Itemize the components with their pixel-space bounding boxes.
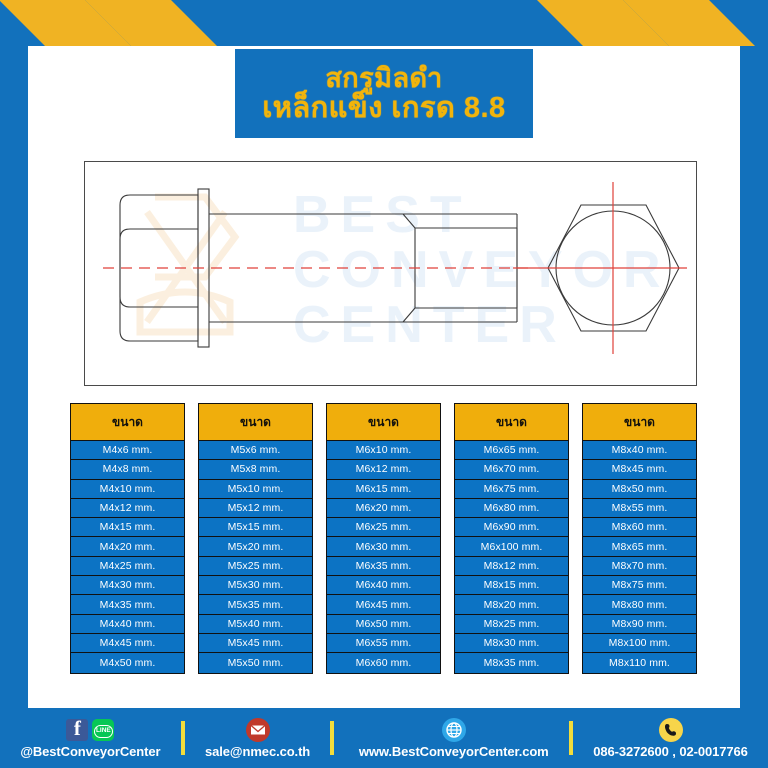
bolt-drawing-svg: BEST CONVEYOR CENTER	[85, 162, 695, 384]
table-row: M8x12 mm.	[455, 557, 568, 576]
table-row: M6x15 mm.	[327, 480, 440, 499]
table-row: M8x110 mm.	[583, 653, 696, 672]
table-row: M6x10 mm.	[327, 441, 440, 460]
table-row: M5x6 mm.	[199, 441, 312, 460]
table-row: M5x30 mm.	[199, 576, 312, 595]
svg-text:BEST: BEST	[293, 186, 472, 244]
table-row: M6x35 mm.	[327, 557, 440, 576]
table-row: M5x25 mm.	[199, 557, 312, 576]
footer-item-website[interactable]: www.BestConveyorCenter.com	[359, 718, 549, 759]
table-header: ขนาด	[454, 403, 569, 441]
table-row: M8x100 mm.	[583, 634, 696, 653]
table-row: M4x50 mm.	[71, 653, 184, 672]
table-row: M6x65 mm.	[455, 441, 568, 460]
table-row: M4x20 mm.	[71, 537, 184, 556]
title-line-1: สกรูมิลดำ	[325, 64, 442, 92]
table-row: M8x60 mm.	[583, 518, 696, 537]
footer-website-label: www.BestConveyorCenter.com	[359, 744, 549, 759]
svg-text:CONVEYOR: CONVEYOR	[293, 241, 671, 299]
table-row: M8x35 mm.	[455, 653, 568, 672]
table-row: M6x75 mm.	[455, 480, 568, 499]
table-row: M4x25 mm.	[71, 557, 184, 576]
table-header: ขนาด	[326, 403, 441, 441]
table-row: M8x15 mm.	[455, 576, 568, 595]
table-row: M4x15 mm.	[71, 518, 184, 537]
table-row: M8x30 mm.	[455, 634, 568, 653]
table-row: M6x55 mm.	[327, 634, 440, 653]
footer-divider-2	[330, 721, 334, 755]
table-row: M6x45 mm.	[327, 595, 440, 614]
table-row: M6x60 mm.	[327, 653, 440, 672]
facebook-icon[interactable]	[66, 719, 88, 741]
table-row: M4x30 mm.	[71, 576, 184, 595]
table-row: M5x40 mm.	[199, 615, 312, 634]
table-row: M6x80 mm.	[455, 499, 568, 518]
table-row: M8x75 mm.	[583, 576, 696, 595]
table-row: M6x25 mm.	[327, 518, 440, 537]
footer-divider-3	[569, 721, 573, 755]
footer-item-phone[interactable]: 086-3272600 , 02-0017766	[593, 718, 747, 759]
table-header: ขนาด	[70, 403, 185, 441]
footer-item-email[interactable]: sale@nmec.co.th	[205, 718, 310, 759]
table-row: M8x45 mm.	[583, 460, 696, 479]
size-table-column-4: ขนาด M6x65 mm.M6x70 mm.M6x75 mm.M6x80 mm…	[454, 403, 569, 674]
table-row: M5x8 mm.	[199, 460, 312, 479]
footer-facebook-label: @BestConveyorCenter	[20, 744, 160, 759]
logo-watermark	[140, 197, 235, 332]
table-row: M5x35 mm.	[199, 595, 312, 614]
footer-phone-label: 086-3272600 , 02-0017766	[593, 744, 747, 759]
size-tables: ขนาด M4x6 mm.M4x8 mm.M4x10 mm.M4x12 mm.M…	[70, 403, 697, 674]
table-body: M6x10 mm.M6x12 mm.M6x15 mm.M6x20 mm.M6x2…	[326, 441, 441, 674]
page-title: สกรูมิลดำ เหล็กแข็ง เกรด 8.8	[235, 49, 533, 138]
table-row: M6x12 mm.	[327, 460, 440, 479]
table-row: M8x25 mm.	[455, 615, 568, 634]
footer-email-label: sale@nmec.co.th	[205, 744, 310, 759]
globe-icon[interactable]	[442, 718, 466, 742]
table-row: M8x20 mm.	[455, 595, 568, 614]
table-row: M8x65 mm.	[583, 537, 696, 556]
table-row: M8x55 mm.	[583, 499, 696, 518]
table-row: M6x100 mm.	[455, 537, 568, 556]
table-row: M5x15 mm.	[199, 518, 312, 537]
svg-text:CENTER: CENTER	[293, 296, 567, 354]
table-row: M4x35 mm.	[71, 595, 184, 614]
footer-bar: @BestConveyorCenter sale@nmec.co.th www.…	[0, 708, 768, 768]
table-row: M8x50 mm.	[583, 480, 696, 499]
phone-icon[interactable]	[659, 718, 683, 742]
size-table-column-2: ขนาด M5x6 mm.M5x8 mm.M5x10 mm.M5x12 mm.M…	[198, 403, 313, 674]
table-row: M6x30 mm.	[327, 537, 440, 556]
table-row: M6x70 mm.	[455, 460, 568, 479]
title-line-2: เหล็กแข็ง เกรด 8.8	[262, 93, 505, 123]
envelope-icon[interactable]	[246, 718, 270, 742]
size-table-column-3: ขนาด M6x10 mm.M6x12 mm.M6x15 mm.M6x20 mm…	[326, 403, 441, 674]
table-row: M6x50 mm.	[327, 615, 440, 634]
table-row: M4x6 mm.	[71, 441, 184, 460]
table-body: M8x40 mm.M8x45 mm.M8x50 mm.M8x55 mm.M8x6…	[582, 441, 697, 674]
table-body: M4x6 mm.M4x8 mm.M4x10 mm.M4x12 mm.M4x15 …	[70, 441, 185, 674]
table-row: M5x20 mm.	[199, 537, 312, 556]
table-row: M6x20 mm.	[327, 499, 440, 518]
table-header: ขนาด	[582, 403, 697, 441]
table-row: M8x80 mm.	[583, 595, 696, 614]
size-table-column-1: ขนาด M4x6 mm.M4x8 mm.M4x10 mm.M4x12 mm.M…	[70, 403, 185, 674]
line-icon[interactable]	[92, 719, 114, 741]
table-body: M5x6 mm.M5x8 mm.M5x10 mm.M5x12 mm.M5x15 …	[198, 441, 313, 674]
table-row: M4x40 mm.	[71, 615, 184, 634]
table-header: ขนาด	[198, 403, 313, 441]
table-body: M6x65 mm.M6x70 mm.M6x75 mm.M6x80 mm.M6x9…	[454, 441, 569, 674]
footer-divider-1	[181, 721, 185, 755]
table-row: M8x70 mm.	[583, 557, 696, 576]
table-row: M5x12 mm.	[199, 499, 312, 518]
table-row: M5x45 mm.	[199, 634, 312, 653]
bolt-drawing-box: BEST CONVEYOR CENTER	[84, 161, 697, 386]
table-row: M4x12 mm.	[71, 499, 184, 518]
footer-item-facebook[interactable]: @BestConveyorCenter	[20, 718, 160, 759]
table-row: M6x40 mm.	[327, 576, 440, 595]
table-row: M4x8 mm.	[71, 460, 184, 479]
table-row: M8x90 mm.	[583, 615, 696, 634]
table-row: M4x10 mm.	[71, 480, 184, 499]
table-row: M5x10 mm.	[199, 480, 312, 499]
table-row: M5x50 mm.	[199, 653, 312, 672]
table-row: M4x45 mm.	[71, 634, 184, 653]
table-row: M8x40 mm.	[583, 441, 696, 460]
size-table-column-5: ขนาด M8x40 mm.M8x45 mm.M8x50 mm.M8x55 mm…	[582, 403, 697, 674]
table-row: M6x90 mm.	[455, 518, 568, 537]
